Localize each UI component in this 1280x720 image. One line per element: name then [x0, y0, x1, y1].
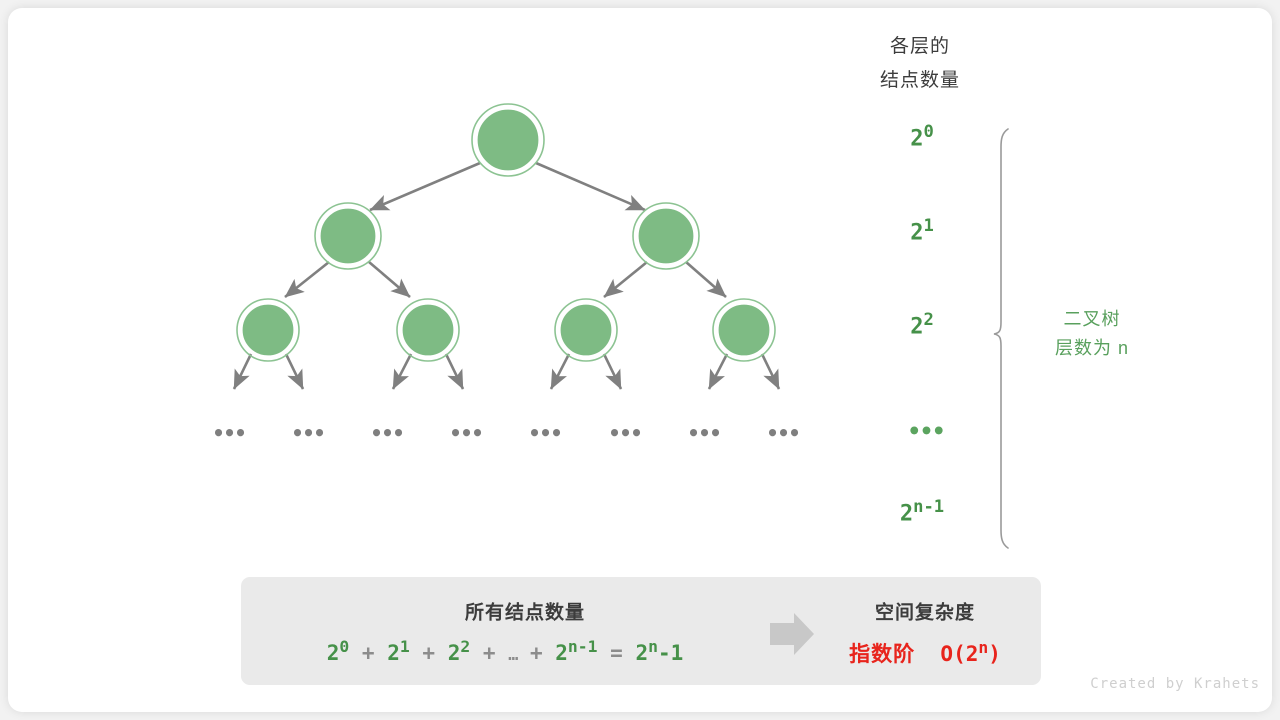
header-line-2: 结点数量 [860, 70, 980, 92]
formula-plus: + [362, 641, 375, 665]
formula-plus: + [422, 641, 435, 665]
level-count-exp: 0 [923, 122, 933, 142]
formula-term-n: 2n-1 [555, 641, 597, 665]
summary-complexity-title: 空间复杂度 [875, 598, 975, 625]
level-count-base: 2 [910, 127, 923, 152]
formula-term-2: 21 [387, 641, 410, 665]
tree-ellipsis: ••• [528, 421, 561, 445]
formula-term-3: 22 [448, 641, 471, 665]
level-count-base: 2 [900, 502, 913, 527]
level-count-exp: 1 [923, 216, 933, 236]
tree-ellipsis: ••• [291, 421, 324, 445]
level-count-exp: n-1 [913, 497, 944, 517]
level-count-n: 2n-1 [900, 502, 944, 527]
level-count-base: 2 [910, 221, 923, 246]
level-count-exp: 2 [923, 310, 933, 330]
summary-nodes-title: 所有结点数量 [465, 598, 585, 625]
level-count-2: 22 [910, 315, 934, 340]
level-count-ellipsis: ••• [908, 420, 945, 445]
level-count-base: 2 [910, 315, 923, 340]
tree-ellipsis: ••• [370, 421, 403, 445]
level-count-0: 20 [910, 127, 934, 152]
formula-plus: + [483, 641, 496, 665]
summary-complexity-value: 指数阶 O(2n) [849, 638, 1001, 668]
summary-box [241, 577, 1041, 685]
complexity-big-o: O(2n) [940, 642, 1000, 666]
formula-equals: = [610, 641, 623, 665]
formula-term-1: 20 [327, 641, 350, 665]
formula-plus: + [530, 641, 543, 665]
formula-result: 2n-1 [635, 641, 683, 665]
brace-note-line-2: 层数为 n [1055, 334, 1129, 363]
tree-ellipsis: ••• [212, 421, 245, 445]
tree-ellipsis: ••• [766, 421, 799, 445]
credit-text: Created by Krahets [1090, 676, 1260, 692]
complexity-prefix: 指数阶 [849, 643, 915, 666]
tree-ellipsis: ••• [687, 421, 720, 445]
tree-ellipsis: ••• [608, 421, 641, 445]
brace-note: 二叉树 层数为 n [1055, 305, 1129, 363]
header-line-1: 各层的 [860, 36, 980, 58]
brace-note-line-1: 二叉树 [1055, 305, 1129, 334]
level-count-1: 21 [910, 221, 934, 246]
diagram-canvas: ••• ••• ••• ••• ••• ••• ••• ••• 各层的 结点数量… [0, 0, 1280, 720]
summary-formula: 20 + 21 + 22 + … + 2n-1 = 2n-1 [327, 641, 684, 665]
formula-middle-dots: … [508, 644, 517, 664]
tree-ellipsis: ••• [449, 421, 482, 445]
